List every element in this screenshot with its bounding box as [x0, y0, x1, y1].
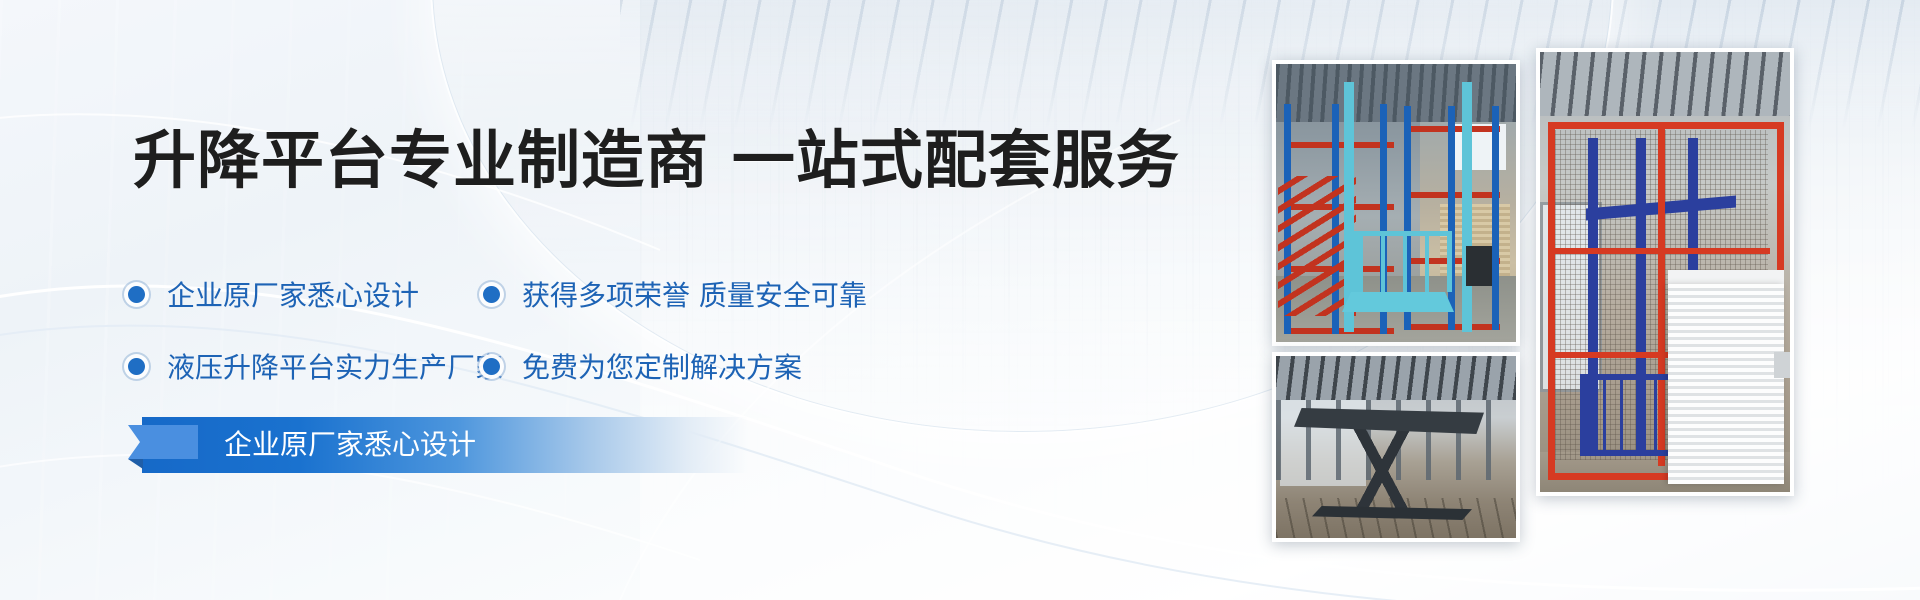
bullet-dot-icon — [483, 286, 500, 303]
product-photo-scissor-lift[interactable] — [1272, 352, 1520, 542]
ribbon-label: 企业原厂家悉心设计 — [224, 417, 476, 473]
feature-row-1: 企业原厂家悉心设计 获得多项荣誉 质量安全可靠 — [128, 258, 1028, 330]
bullet-dot-icon — [128, 358, 145, 375]
promo-banner: 升降平台专业制造商 一站式配套服务 企业原厂家悉心设计 获得多项荣誉 质量安全可… — [0, 0, 1920, 600]
banner-content: 升降平台专业制造商 一站式配套服务 企业原厂家悉心设计 获得多项荣誉 质量安全可… — [0, 0, 1280, 600]
feature-label: 企业原厂家悉心设计 — [167, 274, 419, 314]
ribbon-fold-icon — [128, 459, 143, 469]
feature-item-2: 获得多项荣誉 质量安全可靠 — [483, 274, 867, 314]
feature-item-4: 免费为您定制解决方案 — [483, 346, 802, 386]
ribbon-flag-icon — [128, 425, 198, 459]
feature-label: 免费为您定制解决方案 — [522, 346, 802, 386]
bullet-dot-icon — [128, 286, 145, 303]
product-photo-caged-lift[interactable] — [1536, 48, 1794, 496]
feature-label: 液压升降平台实力生产厂家 — [167, 346, 503, 386]
page-title: 升降平台专业制造商 一站式配套服务 — [133, 110, 1180, 201]
ribbon-banner[interactable]: 企业原厂家悉心设计 — [128, 417, 748, 473]
feature-label: 获得多项荣誉 质量安全可靠 — [522, 274, 867, 314]
bullet-dot-icon — [483, 358, 500, 375]
product-photo-cargo-lift[interactable] — [1272, 60, 1520, 346]
feature-item-3: 液压升降平台实力生产厂家 — [128, 346, 483, 386]
feature-row-2: 液压升降平台实力生产厂家 免费为您定制解决方案 — [128, 330, 1028, 402]
feature-item-1: 企业原厂家悉心设计 — [128, 274, 483, 314]
feature-list: 企业原厂家悉心设计 获得多项荣誉 质量安全可靠 液压升降平台实力生产厂家 免费为… — [128, 258, 1028, 402]
